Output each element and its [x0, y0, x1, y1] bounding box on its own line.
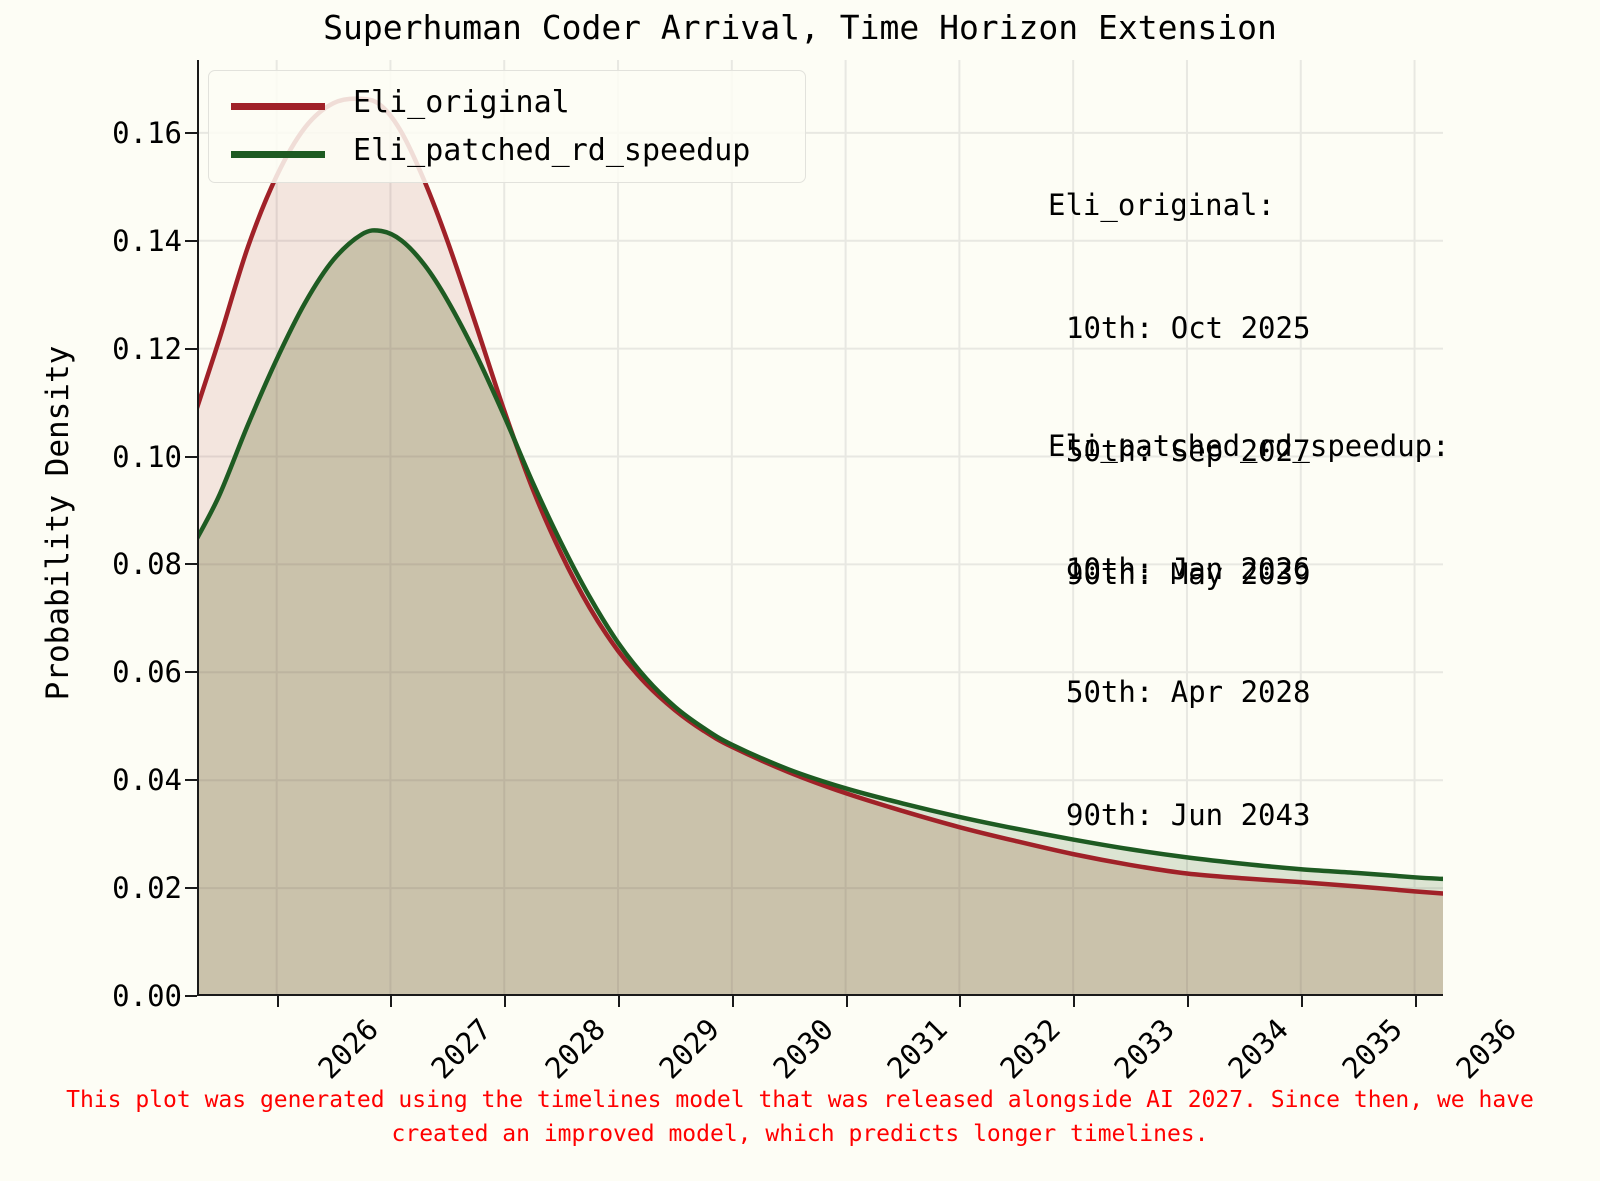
footer-note: This plot was generated using the timeli…: [0, 1083, 1600, 1151]
x-tick-label: 2026: [311, 1012, 384, 1085]
x-tick-mark: [1073, 996, 1075, 1007]
y-tick-label: 0.14: [112, 224, 182, 258]
annotation-percentile-10: 10th: Jan 2026: [1048, 549, 1450, 590]
x-tick-mark: [277, 996, 279, 1007]
legend-swatch-eli-patched-rd-speedup: [231, 151, 325, 158]
y-tick-label: 0.08: [112, 547, 182, 581]
legend-label-eli-original: Eli_original: [353, 85, 570, 120]
x-tick-mark: [1301, 996, 1303, 1007]
x-tick-mark: [618, 996, 620, 1007]
annotation-eli-patched-rd-speedup: Eli_patched_rd_speedup: 10th: Jan 2026 5…: [1048, 344, 1450, 918]
y-tick-label: 0.04: [112, 763, 182, 797]
x-tick-label: 2032: [994, 1012, 1067, 1085]
x-tick-label: 2036: [1449, 1012, 1522, 1085]
y-axis-label: Probability Density: [40, 223, 76, 823]
x-tick-mark: [1187, 996, 1189, 1007]
x-tick-label: 2035: [1335, 1012, 1408, 1085]
annotation-percentile-50: 50th: Apr 2028: [1048, 672, 1450, 713]
x-tick-mark: [504, 996, 506, 1007]
y-tick-mark: [185, 240, 197, 242]
x-tick-mark: [959, 996, 961, 1007]
x-tick-label: 2031: [880, 1012, 953, 1085]
y-tick-mark: [185, 995, 197, 997]
y-tick-mark: [185, 887, 197, 889]
x-tick-label: 2030: [766, 1012, 839, 1085]
legend[interactable]: Eli_original Eli_patched_rd_speedup: [208, 70, 806, 183]
y-tick-mark: [185, 132, 197, 134]
legend-swatch-eli-original: [231, 103, 325, 110]
y-tick-mark: [185, 779, 197, 781]
x-tick-label: 2028: [539, 1012, 612, 1085]
annotation-percentile-10: 10th: Oct 2025: [1048, 308, 1310, 349]
annotation-header: Eli_patched_rd_speedup:: [1048, 426, 1450, 467]
y-tick-label: 0.00: [112, 979, 182, 1013]
y-tick-mark: [185, 456, 197, 458]
y-tick-label: 0.12: [112, 332, 182, 366]
y-tick-mark: [185, 671, 197, 673]
x-tick-mark: [846, 996, 848, 1007]
footer-line-2: created an improved model, which predict…: [0, 1117, 1600, 1151]
x-tick-label: 2034: [1221, 1012, 1294, 1085]
x-tick-label: 2029: [652, 1012, 725, 1085]
annotation-percentile-90: 90th: Jun 2043: [1048, 795, 1450, 836]
y-tick-label: 0.06: [112, 655, 182, 689]
annotation-header: Eli_original:: [1048, 185, 1310, 226]
y-tick-label: 0.02: [112, 871, 182, 905]
x-tick-label: 2033: [1108, 1012, 1181, 1085]
x-tick-mark: [732, 996, 734, 1007]
y-tick-label: 0.16: [112, 116, 182, 150]
footer-line-1: This plot was generated using the timeli…: [0, 1083, 1600, 1117]
y-tick-label: 0.10: [112, 440, 182, 474]
y-tick-mark: [185, 563, 197, 565]
legend-label-eli-patched-rd-speedup: Eli_patched_rd_speedup: [353, 133, 750, 168]
x-tick-mark: [1415, 996, 1417, 1007]
x-tick-label: 2027: [425, 1012, 498, 1085]
page-title: Superhuman Coder Arrival, Time Horizon E…: [0, 8, 1600, 47]
y-tick-mark: [185, 348, 197, 350]
chart-page: Superhuman Coder Arrival, Time Horizon E…: [0, 0, 1600, 1181]
x-tick-mark: [390, 996, 392, 1007]
